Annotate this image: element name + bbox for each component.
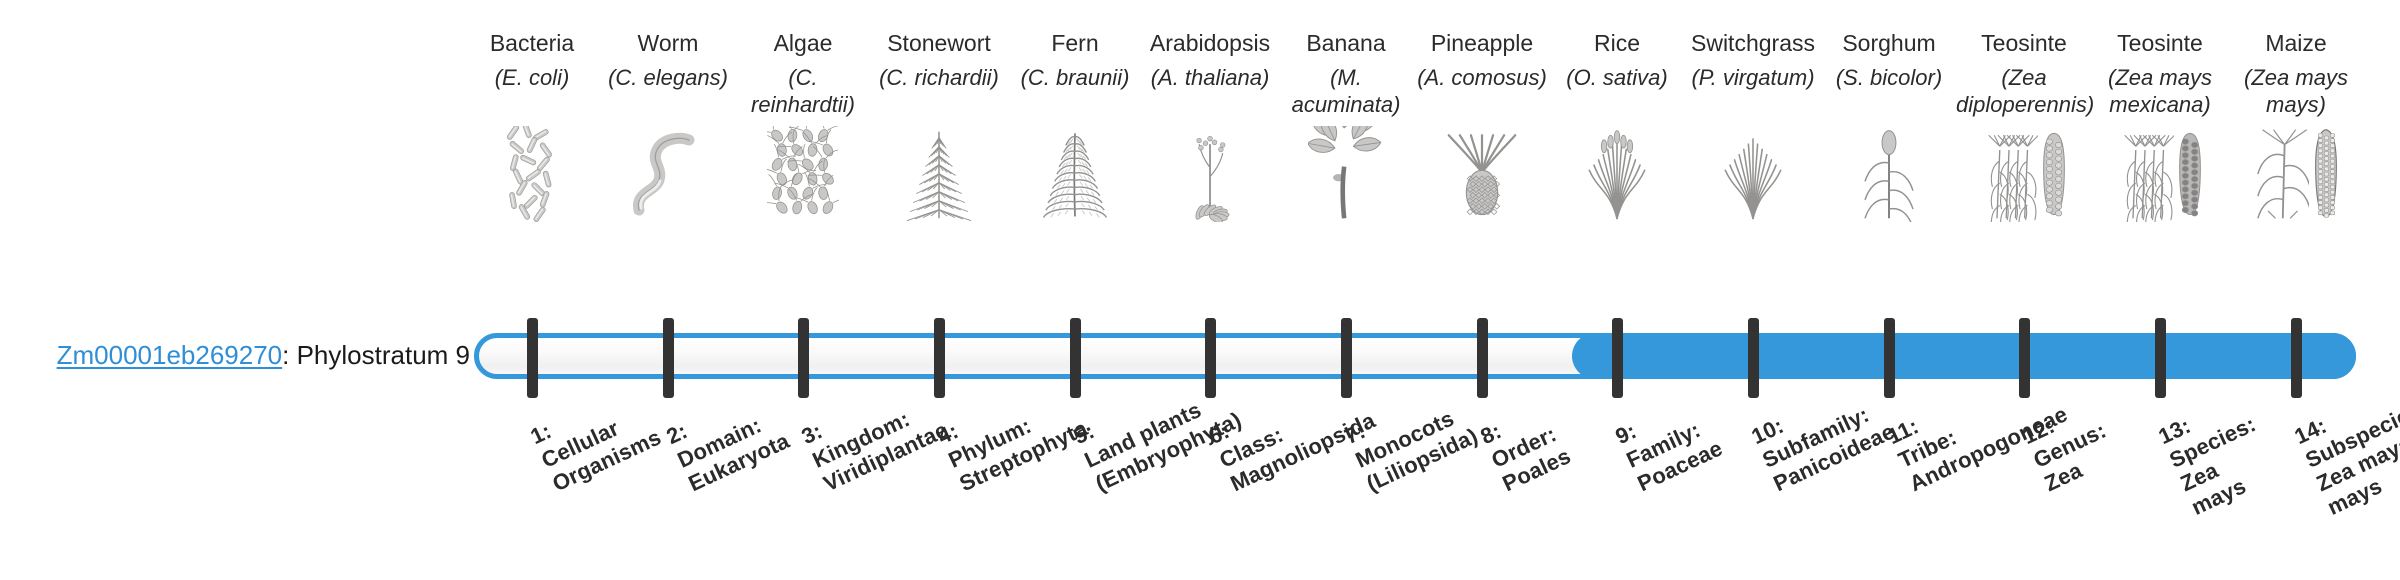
sorghum-icon [1821,126,1957,222]
species-column: Rice(O. sativa) [1549,28,1685,222]
species-latin-name: (Zea mays mays) [2228,62,2364,122]
species-column: Worm(C. elegans) [600,28,736,222]
species-latin-name: (C. reinhardtii) [735,62,871,122]
species-common-name: Rice [1549,28,1685,62]
arabidopsis-icon [1142,126,1278,222]
species-column: Sorghum(S. bicolor) [1821,28,1957,222]
stratum-tick-1[interactable] [527,318,538,398]
species-common-name: Switchgrass [1685,28,1821,62]
species-common-name: Stonewort [871,28,1007,62]
species-latin-name: (S. bicolor) [1821,62,1957,122]
species-latin-name: (P. virgatum) [1685,62,1821,122]
species-latin-name: (M. acuminata) [1278,62,1414,122]
gene-label-separator: : [282,340,296,370]
species-latin-name: (C. richardii) [871,62,1007,122]
species-common-name: Teosinte [1956,28,2092,62]
phylostratum-chart: Zm00001eb269270: Phylostratum 9 Bacteria… [0,0,2400,580]
species-column: Algae(C. reinhardtii) [735,28,871,222]
species-column: Maize(Zea mays mays) [2228,28,2364,222]
bacteria-rods-icon [464,126,600,222]
species-common-name: Worm [600,28,736,62]
species-common-name: Fern [1007,28,1143,62]
species-column: Pineapple(A. comosus) [1414,28,1550,222]
species-latin-name: (Zea diploperennis) [1956,62,2092,122]
species-common-name: Arabidopsis [1142,28,1278,62]
species-column: Stonewort(C. richardii) [871,28,1007,222]
species-common-name: Algae [735,28,871,62]
species-latin-name: (C. elegans) [600,62,736,122]
species-column: Teosinte(Zea diploperennis) [1956,28,2092,222]
fern-frond-icon [1007,126,1143,222]
species-latin-name: (A. comosus) [1414,62,1550,122]
rice-plant-icon [1549,126,1685,222]
species-latin-name: (C. braunii) [1007,62,1143,122]
pineapple-icon [1414,126,1550,222]
species-common-name: Banana [1278,28,1414,62]
species-latin-name: (Zea mays mexicana) [2092,62,2228,122]
species-column: Banana(M. acuminata) [1278,28,1414,222]
species-latin-name: (E. coli) [464,62,600,122]
species-column: Fern(C. braunii) [1007,28,1143,222]
bar-fill [1572,333,2356,379]
species-common-name: Pineapple [1414,28,1550,62]
phylostratum-value-text: Phylostratum 9 [297,340,470,370]
species-column: Switchgrass(P. virgatum) [1685,28,1821,222]
switchgrass-icon [1685,126,1821,222]
nematode-worm-icon [600,126,736,222]
algae-cells-icon [735,126,871,222]
maize-icon [2228,126,2364,222]
gene-id-link[interactable]: Zm00001eb269270 [57,340,283,370]
stonewort-icon [871,126,1007,222]
teosinte-mexicana-icon [2092,126,2228,222]
species-column: Arabidopsis(A. thaliana) [1142,28,1278,222]
species-latin-name: (A. thaliana) [1142,62,1278,122]
species-column: Teosinte(Zea mays mexicana) [2092,28,2228,222]
species-latin-name: (O. sativa) [1549,62,1685,122]
species-common-name: Sorghum [1821,28,1957,62]
gene-phylostratum-label: Zm00001eb269270: Phylostratum 9 [40,340,470,371]
teosinte-diploperennis-icon [1956,126,2092,222]
species-common-name: Bacteria [464,28,600,62]
banana-plant-icon [1278,126,1414,222]
species-column: Bacteria(E. coli) [464,28,600,222]
species-common-name: Teosinte [2092,28,2228,62]
species-common-name: Maize [2228,28,2364,62]
